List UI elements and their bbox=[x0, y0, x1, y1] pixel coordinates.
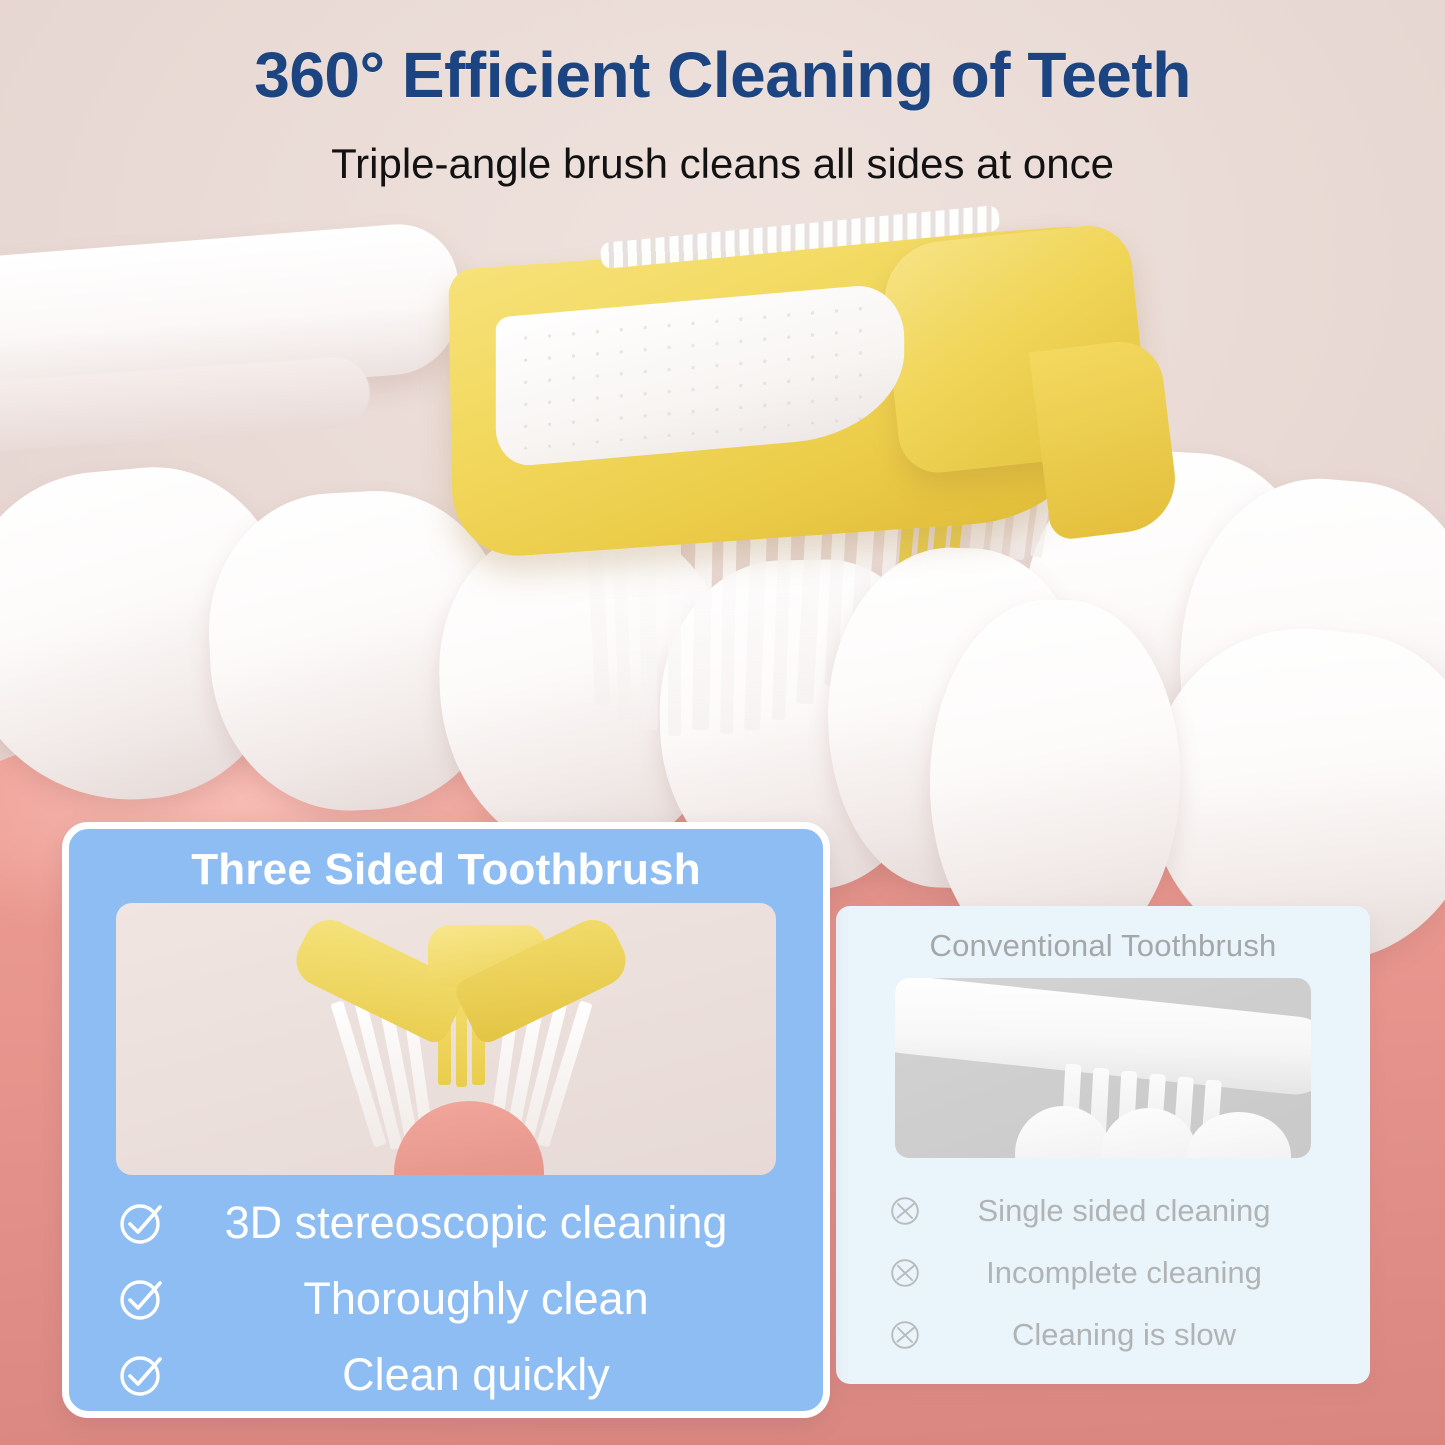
x-circle-icon bbox=[886, 1192, 924, 1230]
list-item: Single sided cleaning bbox=[836, 1180, 1370, 1242]
list-item: Cleaning is slow bbox=[836, 1304, 1370, 1366]
list-item-label: Thoroughly clean bbox=[169, 1273, 823, 1325]
page-subtitle: Triple-angle brush cleans all sides at o… bbox=[0, 140, 1445, 188]
x-circle-icon bbox=[886, 1254, 924, 1292]
featured-benefit-list: 3D stereoscopic cleaning Thoroughly clea… bbox=[69, 1185, 823, 1413]
x-circle-icon bbox=[886, 1316, 924, 1354]
check-circle-icon bbox=[115, 1272, 169, 1326]
list-item: Thoroughly clean bbox=[69, 1261, 823, 1337]
conventional-card: Conventional Toothbrush bbox=[836, 906, 1370, 1384]
grip-texture bbox=[514, 297, 871, 451]
featured-card-title: Three Sided Toothbrush bbox=[69, 829, 823, 895]
list-item-label: 3D stereoscopic cleaning bbox=[169, 1197, 823, 1249]
featured-card: Three Sided Toothbrush bbox=[62, 822, 830, 1418]
conventional-benefit-list: Single sided cleaning Incomplete cleanin… bbox=[836, 1180, 1370, 1366]
conventional-brush-image bbox=[895, 978, 1311, 1158]
check-circle-icon bbox=[115, 1348, 169, 1402]
list-item-label: Single sided cleaning bbox=[924, 1193, 1370, 1229]
page-title: 360° Efficient Cleaning of Teeth bbox=[0, 38, 1445, 112]
three-sided-brush-image bbox=[116, 903, 776, 1175]
promo-graphic: 360° Efficient Cleaning of Teeth Triple-… bbox=[0, 0, 1445, 1445]
check-circle-icon bbox=[115, 1196, 169, 1250]
list-item-label: Cleaning is slow bbox=[924, 1317, 1370, 1353]
toothbrush-head bbox=[440, 224, 1140, 544]
list-item: Clean quickly bbox=[69, 1337, 823, 1413]
list-item: Incomplete cleaning bbox=[836, 1242, 1370, 1304]
list-item-label: Clean quickly bbox=[169, 1349, 823, 1401]
conventional-card-title: Conventional Toothbrush bbox=[836, 906, 1370, 964]
list-item-label: Incomplete cleaning bbox=[924, 1255, 1370, 1291]
list-item: 3D stereoscopic cleaning bbox=[69, 1185, 823, 1261]
brush-hook bbox=[1029, 337, 1181, 541]
